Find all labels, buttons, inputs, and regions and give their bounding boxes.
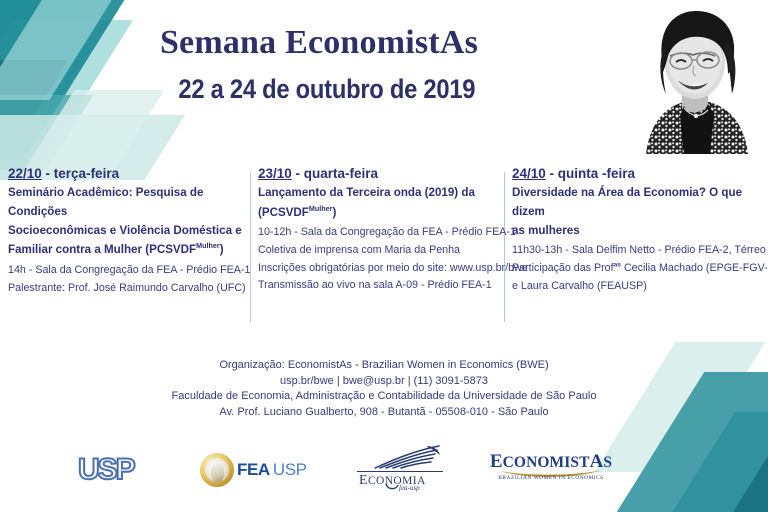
event-title-text: Familiar contra a Mulher (PCSVDF bbox=[8, 243, 196, 256]
usp-logo: USP bbox=[78, 442, 134, 498]
event-title-text: (PCSVDF bbox=[258, 206, 309, 219]
event-detail-line: Palestrante: Prof. José Raimundo Carvalh… bbox=[8, 280, 248, 298]
event-title-tail: ) bbox=[332, 206, 336, 219]
medallion-figure bbox=[211, 462, 224, 482]
economistas-s: S bbox=[603, 454, 612, 471]
column-divider bbox=[250, 172, 251, 322]
event-dates: 22 a 24 de outubro de 2019 bbox=[46, 74, 722, 105]
footer-faculty: Faculdade de Economia, Administração e C… bbox=[0, 389, 768, 405]
event-title-3: Diversidade na Área da Economia? O que d… bbox=[512, 184, 762, 240]
poster-header: Semana EconomistAs 22 a 24 de outubro de… bbox=[0, 0, 768, 152]
fea-usp-logo: FEAUSP bbox=[200, 442, 307, 498]
wing-icon bbox=[373, 445, 443, 471]
economia-fea-usp-logo: ECONOMIA fea-usp bbox=[355, 442, 447, 498]
event-details-2: 10-12h - Sala da Congregação da FEA - Pr… bbox=[258, 224, 498, 295]
event-title-line: Seminário Acadêmico: Pesquisa de Condiçõ… bbox=[8, 184, 248, 222]
economistas-sublabel: BRAZILIAN WOMEN IN ECONOMICS bbox=[487, 475, 615, 481]
footer-contact-block: Organização: EconomistAs - Brazilian Wom… bbox=[0, 358, 768, 420]
fea-logo-text: FEA bbox=[237, 460, 270, 480]
economistas-logo: ECONOMISTAS BRAZILIAN WOMEN IN ECONOMICS bbox=[487, 442, 615, 498]
event-title-line: Diversidade na Área da Economia? O que d… bbox=[512, 184, 762, 222]
day-weekday-3: - quinta -feira bbox=[546, 166, 635, 181]
event-detail-line: Coletiva de imprensa com Maria da Penha bbox=[258, 242, 498, 260]
event-detail-line: e Laura Carvalho (FEAUSP) bbox=[512, 278, 762, 296]
footer-address: Av. Prof. Luciano Gualberto, 908 - Butan… bbox=[0, 405, 768, 421]
economia-rule bbox=[357, 471, 443, 472]
event-title-tail: ) bbox=[220, 243, 224, 256]
day-date-2: 23/10 bbox=[258, 166, 292, 181]
event-detail-line: 10-12h - Sala da Congregação da FEA - Pr… bbox=[258, 224, 498, 242]
event-title-1: Seminário Acadêmico: Pesquisa de Condiçõ… bbox=[8, 184, 248, 260]
day-weekday-1: - terça-feira bbox=[42, 166, 119, 181]
economia-swoosh-icon bbox=[385, 483, 399, 491]
logo-row: USP FEAUSP bbox=[0, 442, 768, 502]
event-poster: Semana EconomistAs 22 a 24 de outubro de… bbox=[0, 0, 768, 512]
day-weekday-2: - quarta-feira bbox=[292, 166, 378, 181]
medallion-inner bbox=[205, 458, 229, 482]
event-detail-line: 14h - Sala da Congregação da FEA - Prédi… bbox=[8, 262, 248, 280]
event-detail-line: Transmissão ao vivo na sala A-09 - Prédi… bbox=[258, 277, 498, 295]
day-heading-3: 24/10 - quinta -feira bbox=[512, 166, 762, 181]
event-detail-text: Participação das Prof bbox=[512, 262, 614, 274]
schedule-column-1: 22/10 - terça-feira Seminário Acadêmico:… bbox=[8, 166, 248, 297]
event-detail-line: 11h30-13h - Sala Delfim Netto - Prédio F… bbox=[512, 242, 762, 260]
event-details-1: 14h - Sala da Congregação da FEA - Prédi… bbox=[8, 262, 248, 297]
schedule-columns: 22/10 - terça-feira Seminário Acadêmico:… bbox=[0, 166, 768, 331]
event-title-superscript: Mulher bbox=[309, 204, 333, 213]
fea-medallion-icon bbox=[200, 453, 234, 487]
fea-usp-logo-text: USP bbox=[273, 460, 307, 480]
day-heading-2: 23/10 - quarta-feira bbox=[258, 166, 498, 181]
column-divider bbox=[504, 172, 505, 322]
event-title-superscript: Mulher bbox=[196, 241, 220, 250]
schedule-column-3: 24/10 - quinta -feira Diversidade na Áre… bbox=[512, 166, 762, 295]
event-title-line: Familiar contra a Mulher (PCSVDFMulher) bbox=[8, 240, 248, 260]
event-detail-superscript: as bbox=[614, 261, 621, 268]
event-detail-line: Participação das Profas Cecilia Machado … bbox=[512, 260, 762, 278]
event-title-2: Lançamento da Terceira onda (2019) da (P… bbox=[258, 184, 498, 222]
portrait-illustration bbox=[640, 2, 752, 154]
schedule-column-2: 23/10 - quarta-feira Lançamento da Terce… bbox=[258, 166, 498, 295]
day-date-1: 22/10 bbox=[8, 166, 42, 181]
event-title-line: Socioeconômicas e Violência Doméstica e bbox=[8, 222, 248, 241]
economia-initial: E bbox=[359, 473, 368, 488]
event-title-line: (PCSVDFMulher) bbox=[258, 203, 498, 223]
day-date-3: 24/10 bbox=[512, 166, 546, 181]
event-title-line: Lançamento da Terceira onda (2019) da bbox=[258, 184, 498, 203]
footer-contacts[interactable]: usp.br/bwe | bwe@usp.br | (11) 3091-5873 bbox=[0, 374, 768, 390]
event-detail-line-registration[interactable]: Inscrições obrigatórias por meio do site… bbox=[258, 260, 498, 278]
usp-logo-text: USP bbox=[78, 453, 134, 487]
footer-organization: Organização: EconomistAs - Brazilian Wom… bbox=[0, 358, 768, 374]
event-detail-tail: Cecilia Machado (EPGE-FGV-RJ) bbox=[621, 262, 768, 274]
portrait-photo bbox=[640, 2, 752, 154]
economia-sublabel: fea-usp bbox=[399, 484, 420, 492]
event-details-3: 11h30-13h - Sala Delfim Netto - Prédio F… bbox=[512, 242, 762, 295]
day-heading-1: 22/10 - terça-feira bbox=[8, 166, 248, 181]
event-title-line: as mulheres bbox=[512, 222, 762, 241]
